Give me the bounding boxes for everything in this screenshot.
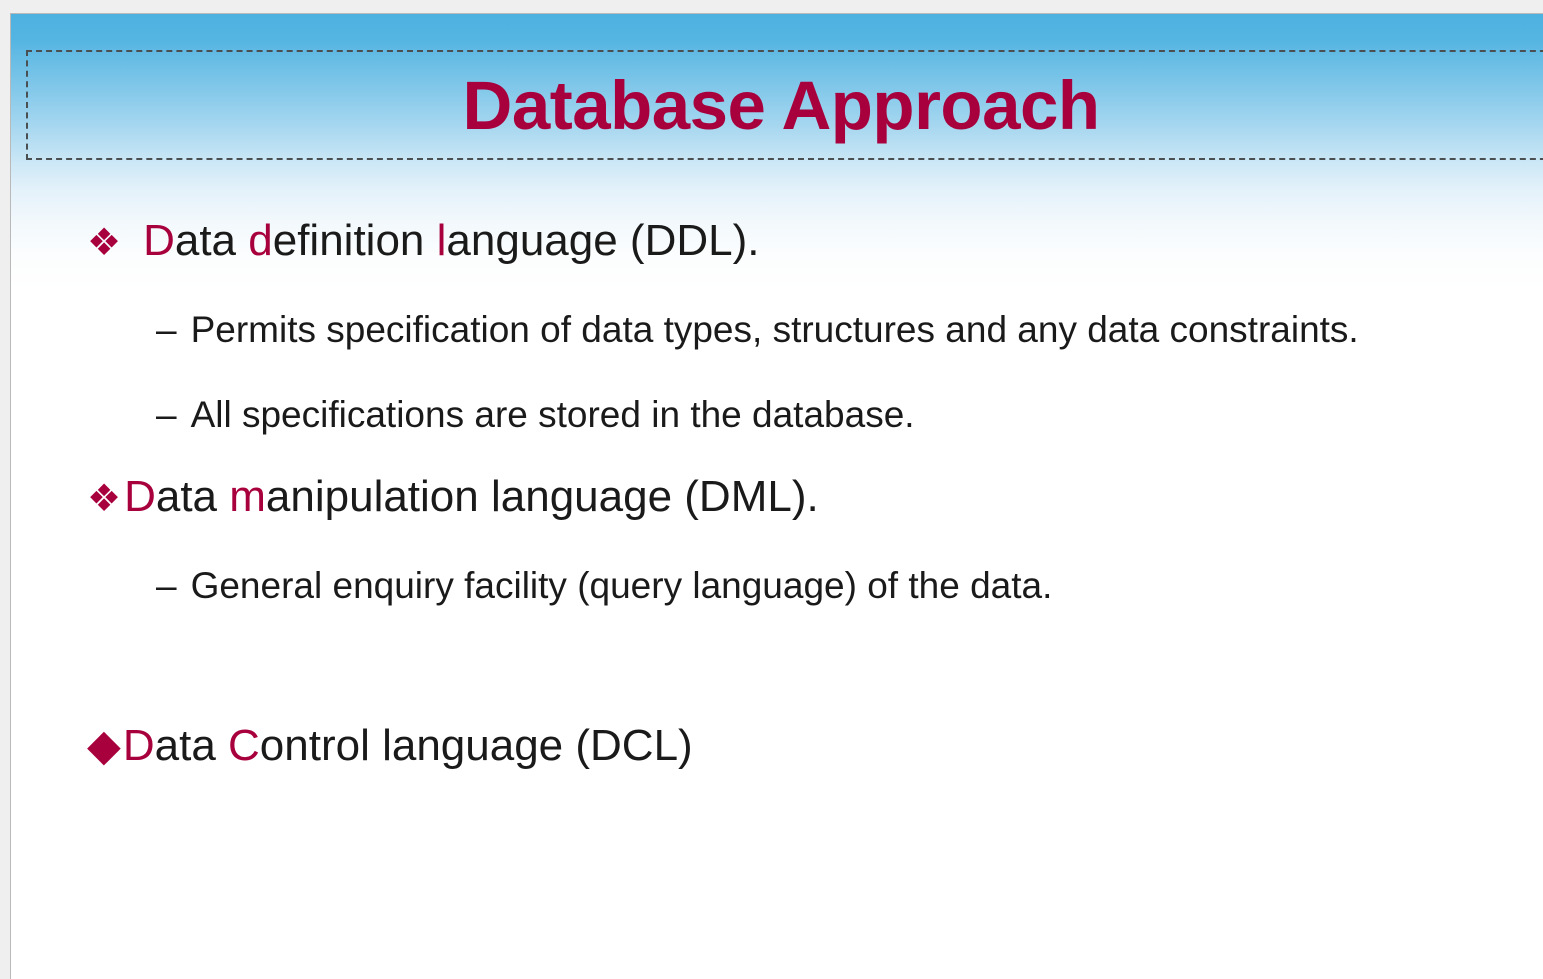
bullet-text-ddl-heading: Data definition language (DDL). (143, 219, 1511, 263)
bullet-row-dcl-heading[interactable]: ◆Data Control language (DCL) (87, 724, 1511, 768)
bullet-text-ddl-sub-2: All specifications are stored in the dat… (191, 396, 1511, 433)
page-title: Database Approach (26, 50, 1536, 160)
bullet-text-dml-heading: Data manipulation language (DML). (124, 475, 1511, 519)
slide-body-content: ❖Data definition language (DDL).–Permits… (11, 219, 1511, 768)
en-dash-bullet-icon: – (156, 567, 177, 604)
bullet-row-dml-heading[interactable]: ❖Data manipulation language (DML). (87, 475, 1511, 519)
four-diamond-bullet-icon: ❖ (87, 224, 121, 262)
solid-diamond-bullet-icon: ◆ (87, 724, 121, 768)
four-diamond-bullet-icon: ❖ (87, 480, 121, 518)
bullet-row-ddl-heading[interactable]: ❖Data definition language (DDL). (87, 219, 1511, 263)
slide-canvas: Database Approach ❖Data definition langu… (10, 13, 1543, 979)
bullet-row-ddl-sub-1[interactable]: –Permits specification of data types, st… (156, 311, 1511, 348)
bullet-text-dcl-heading: Data Control language (DCL) (123, 724, 1511, 768)
bullet-row-ddl-sub-2[interactable]: –All specifications are stored in the da… (156, 396, 1511, 433)
bullet-text-ddl-sub-1: Permits specification of data types, str… (191, 311, 1511, 348)
bullet-row-dml-sub-1[interactable]: –General enquiry facility (query languag… (156, 567, 1511, 604)
bullet-text-dml-sub-1: General enquiry facility (query language… (191, 567, 1511, 604)
en-dash-bullet-icon: – (156, 311, 177, 348)
blank-line-spacer (11, 604, 1511, 682)
en-dash-bullet-icon: – (156, 396, 177, 433)
